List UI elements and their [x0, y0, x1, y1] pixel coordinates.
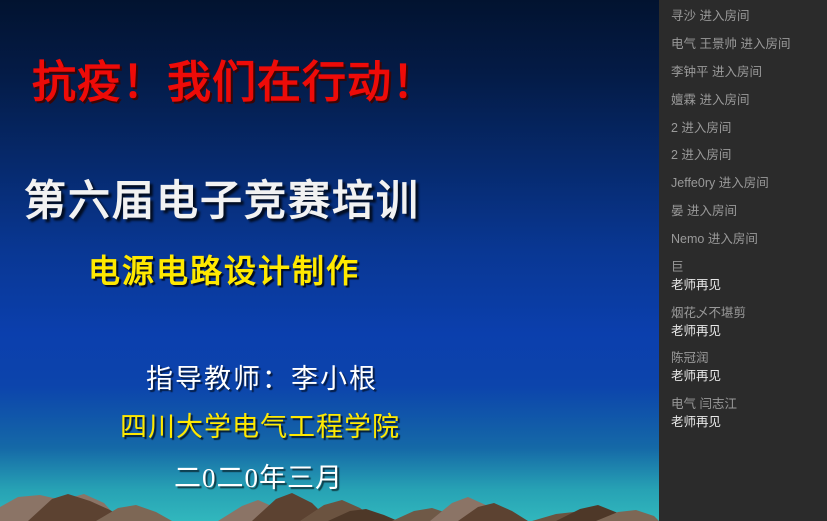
- chat-message-text: 老师再见: [671, 323, 819, 340]
- chat-message-item[interactable]: 陈冠润老师再见: [659, 350, 827, 385]
- screen-root: 抗疫！我们在行动！ 第六届电子竞赛培训 电源电路设计制作 指导教师：李小根 四川…: [0, 0, 827, 521]
- chat-message-list[interactable]: 寻沙 进入房间电气 王景帅 进入房间李钟平 进入房间嬗霖 进入房间2 进入房间2…: [659, 8, 827, 431]
- chat-system-notice: 2 进入房间: [671, 120, 819, 137]
- chat-message-item[interactable]: 2 进入房间: [659, 120, 827, 137]
- chat-message-panel[interactable]: 寻沙 进入房间电气 王景帅 进入房间李钟平 进入房间嬗霖 进入房间2 进入房间2…: [659, 0, 827, 521]
- chat-system-notice: 李钟平 进入房间: [671, 64, 819, 81]
- slide-institution-line: 四川大学电气工程学院: [120, 405, 400, 444]
- presentation-slide[interactable]: 抗疫！我们在行动！ 第六届电子竞赛培训 电源电路设计制作 指导教师：李小根 四川…: [0, 0, 659, 521]
- chat-system-notice: Jeffe0ry 进入房间: [671, 175, 819, 192]
- chat-system-notice: 嬗霖 进入房间: [671, 92, 819, 109]
- chat-message-item[interactable]: 晏 进入房间: [659, 203, 827, 220]
- slide-main-title: 第六届电子竞赛培训: [24, 167, 420, 228]
- chat-message-text: 老师再见: [671, 368, 819, 385]
- slide-instructor-line: 指导教师：李小根: [146, 357, 378, 396]
- chat-system-notice: 寻沙 进入房间: [671, 8, 819, 25]
- chat-message-item[interactable]: 2 进入房间: [659, 147, 827, 164]
- chat-message-item[interactable]: 寻沙 进入房间: [659, 8, 827, 25]
- chat-message-item[interactable]: Jeffe0ry 进入房间: [659, 175, 827, 192]
- chat-message-text: 老师再见: [671, 277, 819, 294]
- chat-message-item[interactable]: 巨老师再见: [659, 259, 827, 294]
- chat-system-notice: Nemo 进入房间: [671, 231, 819, 248]
- chat-message-item[interactable]: 电气 王景帅 进入房间: [659, 36, 827, 53]
- chat-sender-name: 烟花乄不堪剪: [671, 305, 819, 322]
- chat-message-item[interactable]: 烟花乄不堪剪老师再见: [659, 305, 827, 340]
- chat-message-item[interactable]: Nemo 进入房间: [659, 231, 827, 248]
- chat-sender-name: 巨: [671, 259, 819, 276]
- chat-sender-name: 电气 闫志江: [671, 396, 819, 413]
- chat-message-item[interactable]: 李钟平 进入房间: [659, 64, 827, 81]
- chat-message-item[interactable]: 嬗霖 进入房间: [659, 92, 827, 109]
- chat-system-notice: 电气 王景帅 进入房间: [671, 36, 819, 53]
- chat-system-notice: 2 进入房间: [671, 147, 819, 164]
- chat-system-notice: 晏 进入房间: [671, 203, 819, 220]
- mountain-silhouette-graphic: [0, 481, 659, 521]
- chat-message-text: 老师再见: [671, 414, 819, 431]
- chat-message-item[interactable]: 电气 闫志江老师再见: [659, 396, 827, 431]
- slide-subtitle: 电源电路设计制作: [88, 246, 360, 292]
- chat-sender-name: 陈冠润: [671, 350, 819, 367]
- slide-red-headline: 抗疫！我们在行动！: [32, 46, 437, 110]
